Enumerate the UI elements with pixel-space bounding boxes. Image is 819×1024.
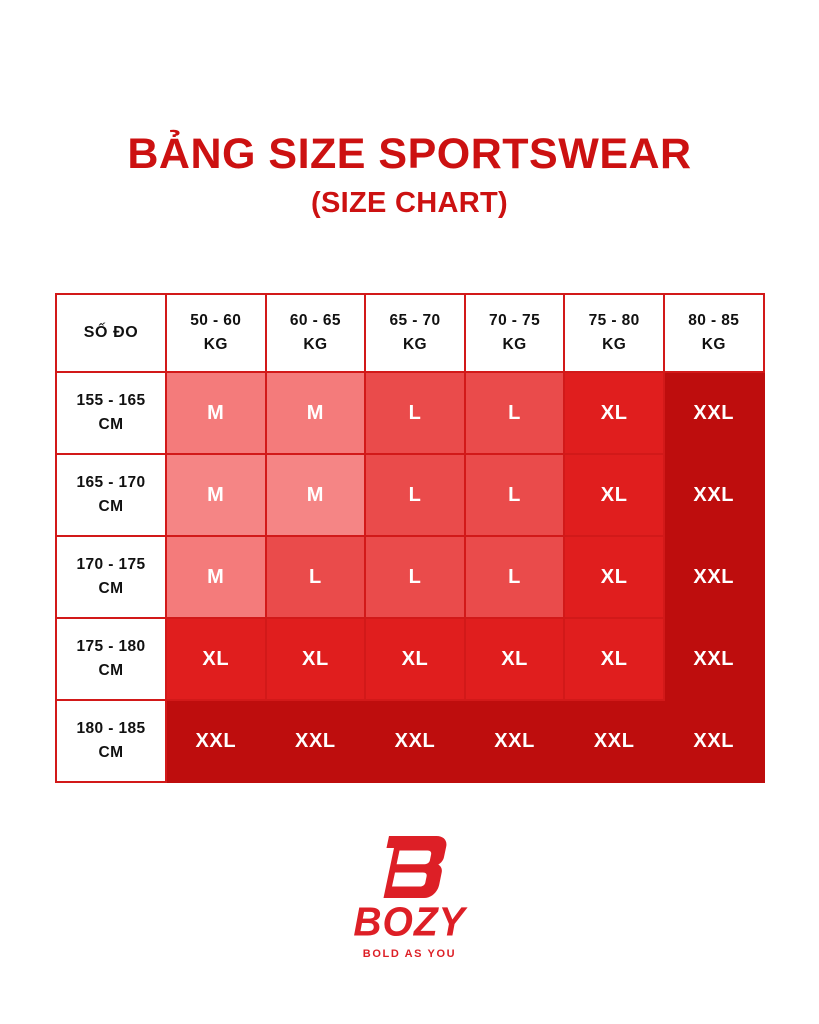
size-cell: XXL [465,700,565,782]
size-cell: XXL [365,700,465,782]
size-cell: L [465,536,565,618]
size-cell: XXL [166,700,266,782]
size-cell: M [266,454,366,536]
column-header-weight: 65 - 70 KG [365,294,465,372]
row-header-unit: CM [57,659,165,683]
column-header-range: 70 - 75 [466,309,564,333]
size-cell: XL [564,372,664,454]
table-row: 165 - 170 CM M M L L XL XXL [56,454,764,536]
row-header-range: 165 - 170 [57,471,165,495]
corner-header-measurement: SỐ ĐO [56,294,166,372]
size-cell: XL [266,618,366,700]
column-header-range: 60 - 65 [267,309,365,333]
row-header-height: 165 - 170 CM [56,454,166,536]
size-cell: XL [465,618,565,700]
size-chart-page: BẢNG SIZE SPORTSWEAR (SIZE CHART) SỐ ĐO … [0,0,819,1024]
column-header-unit: KG [167,333,265,357]
size-cell: L [266,536,366,618]
page-title: BẢNG SIZE SPORTSWEAR [0,131,819,177]
logo-wordmark: BOZY [353,902,465,943]
size-cell: XL [564,536,664,618]
logo-tagline: BOLD AS YOU [363,949,456,960]
table-row: 170 - 175 CM M L L L XL XXL [56,536,764,618]
size-chart-table-wrap: SỐ ĐO 50 - 60 KG 60 - 65 KG 65 - 70 KG [55,293,763,783]
column-header-range: 75 - 80 [565,309,663,333]
table-row: 155 - 165 CM M M L L XL XXL [56,372,764,454]
column-header-weight: 80 - 85 KG [664,294,764,372]
size-cell: XXL [266,700,366,782]
column-header-unit: KG [366,333,464,357]
table-row: 175 - 180 CM XL XL XL XL XL XXL [56,618,764,700]
row-header-range: 155 - 165 [57,389,165,413]
size-cell: XXL [664,618,764,700]
column-header-weight: 75 - 80 KG [564,294,664,372]
size-cell: XL [166,618,266,700]
size-cell: XXL [664,372,764,454]
row-header-unit: CM [57,413,165,437]
column-header-weight: 70 - 75 KG [465,294,565,372]
table-row: 180 - 185 CM XXL XXL XXL XXL XXL XXL [56,700,764,782]
size-cell: M [166,454,266,536]
size-cell: XXL [664,536,764,618]
size-cell: L [365,454,465,536]
size-cell: L [365,372,465,454]
size-cell: M [266,372,366,454]
table-header: SỐ ĐO 50 - 60 KG 60 - 65 KG 65 - 70 KG [56,294,764,372]
row-header-height: 155 - 165 CM [56,372,166,454]
row-header-unit: CM [57,495,165,519]
column-header-unit: KG [665,333,763,357]
size-cell: XXL [664,700,764,782]
size-cell: L [365,536,465,618]
row-header-height: 170 - 175 CM [56,536,166,618]
size-cell: XXL [664,454,764,536]
row-header-range: 175 - 180 [57,635,165,659]
column-header-unit: KG [565,333,663,357]
size-cell: XL [564,454,664,536]
size-cell: L [465,372,565,454]
size-cell: XXL [564,700,664,782]
size-cell: L [465,454,565,536]
column-header-unit: KG [267,333,365,357]
row-header-height: 180 - 185 CM [56,700,166,782]
column-header-unit: KG [466,333,564,357]
header-row: SỐ ĐO 50 - 60 KG 60 - 65 KG 65 - 70 KG [56,294,764,372]
page-subtitle: (SIZE CHART) [0,188,819,218]
column-header-weight: 50 - 60 KG [166,294,266,372]
column-header-range: 80 - 85 [665,309,763,333]
brand-logo: BOZY BOLD AS YOU [0,836,819,960]
row-header-range: 170 - 175 [57,553,165,577]
size-cell: XL [564,618,664,700]
size-cell: M [166,536,266,618]
column-header-weight: 60 - 65 KG [266,294,366,372]
size-chart-table: SỐ ĐO 50 - 60 KG 60 - 65 KG 65 - 70 KG [55,293,765,783]
size-cell: XL [365,618,465,700]
row-header-height: 175 - 180 CM [56,618,166,700]
title-block: BẢNG SIZE SPORTSWEAR (SIZE CHART) [0,131,819,219]
size-cell: M [166,372,266,454]
row-header-range: 180 - 185 [57,717,165,741]
row-header-unit: CM [57,741,165,765]
bozy-b-mark-icon [372,836,448,898]
column-header-range: 65 - 70 [366,309,464,333]
table-body: 155 - 165 CM M M L L XL XXL 165 - 170 CM… [56,372,764,782]
row-header-unit: CM [57,577,165,601]
column-header-range: 50 - 60 [167,309,265,333]
